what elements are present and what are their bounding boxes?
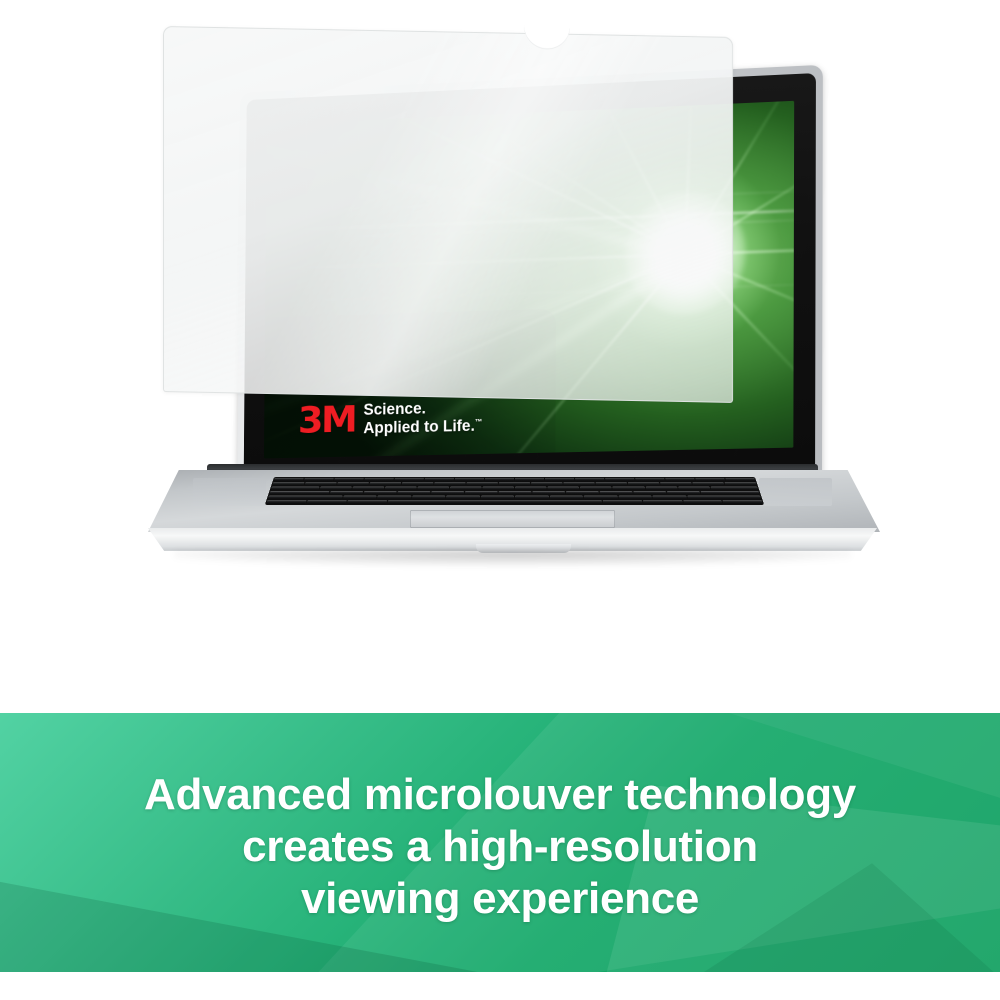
key	[695, 478, 725, 481]
key	[369, 482, 401, 486]
key	[605, 478, 635, 481]
key	[434, 482, 466, 486]
key	[532, 491, 565, 495]
key	[401, 482, 433, 486]
key	[337, 482, 369, 486]
key	[547, 487, 579, 491]
key	[482, 487, 514, 491]
marketing-banner: Advanced microlouver technology creates …	[0, 713, 1000, 972]
key	[666, 491, 700, 495]
key	[346, 500, 386, 504]
key	[417, 487, 449, 491]
key	[575, 478, 604, 481]
key	[464, 491, 497, 495]
tagline-line-2-text: Applied to Life.	[363, 417, 475, 437]
key	[584, 496, 618, 500]
3m-logo-lockup: 3M Science. Applied to Life.™	[300, 399, 483, 440]
key	[531, 482, 562, 486]
key	[682, 500, 722, 504]
key	[499, 482, 530, 486]
key	[565, 491, 598, 495]
key	[334, 478, 364, 481]
banner-line-3: viewing experience	[0, 873, 1000, 925]
key	[267, 496, 342, 500]
keyboard	[264, 477, 764, 505]
key	[645, 487, 677, 491]
key	[665, 478, 695, 481]
keyboard-row	[269, 491, 760, 495]
key	[628, 482, 660, 486]
key	[364, 478, 394, 481]
key	[602, 500, 642, 504]
key	[515, 478, 544, 481]
key	[424, 478, 453, 481]
3m-tagline: Science. Applied to Life.™	[363, 399, 482, 438]
key	[273, 478, 303, 481]
key	[618, 496, 652, 500]
key	[725, 482, 757, 486]
key	[687, 496, 762, 500]
key	[449, 487, 481, 491]
key	[351, 487, 383, 491]
key	[633, 491, 666, 495]
3m-logo-mark: 3M	[298, 405, 356, 436]
key	[545, 478, 574, 481]
key	[466, 482, 497, 486]
key	[692, 482, 724, 486]
key	[599, 491, 632, 495]
key	[411, 496, 445, 500]
trackpad	[410, 510, 616, 528]
key	[304, 482, 336, 486]
key	[485, 478, 514, 481]
key	[710, 487, 758, 491]
key	[642, 500, 682, 504]
key	[272, 482, 304, 486]
keyboard-row	[266, 500, 763, 504]
key	[515, 487, 547, 491]
key	[549, 496, 583, 500]
tagline-line-2: Applied to Life.™	[363, 417, 482, 438]
key	[595, 482, 627, 486]
key	[342, 496, 376, 500]
filter-sheen	[164, 27, 732, 402]
banner-line-1: Advanced microlouver technology	[0, 769, 1000, 821]
key	[454, 478, 483, 481]
key	[394, 478, 424, 481]
key	[480, 496, 514, 500]
speaker-grille-left	[193, 478, 267, 506]
trademark-symbol: ™	[475, 417, 483, 426]
key	[269, 491, 329, 495]
spacebar-key	[387, 500, 602, 504]
key	[635, 478, 665, 481]
key	[266, 500, 306, 504]
key	[725, 478, 755, 481]
privacy-filter-sheet	[163, 26, 733, 403]
laptop-drop-shadow	[174, 550, 850, 566]
key	[446, 496, 480, 500]
key	[700, 491, 760, 495]
key	[396, 491, 429, 495]
key	[329, 491, 363, 495]
keyboard-row	[270, 487, 758, 491]
keyboard-row	[272, 482, 757, 486]
key	[319, 487, 351, 491]
banner-headline: Advanced microlouver technology creates …	[0, 769, 1000, 925]
key	[723, 500, 763, 504]
key	[563, 482, 595, 486]
key	[306, 500, 346, 504]
key	[498, 491, 531, 495]
key	[430, 491, 463, 495]
banner-line-2: creates a high-resolution	[0, 821, 1000, 873]
keyboard-row	[267, 496, 761, 500]
key	[652, 496, 686, 500]
laptop-illustration: 3M Science. Applied to Life.™	[0, 0, 1000, 600]
key	[363, 491, 396, 495]
laptop-base	[145, 470, 880, 556]
product-image: 3M Science. Applied to Life.™	[0, 0, 1000, 713]
key	[677, 487, 709, 491]
key	[612, 487, 644, 491]
key	[660, 482, 692, 486]
finger-notch	[524, 19, 570, 50]
key	[270, 487, 318, 491]
speaker-grille-right	[759, 478, 833, 506]
key	[515, 496, 549, 500]
key	[377, 496, 411, 500]
key	[384, 487, 416, 491]
keyboard-row	[273, 478, 755, 481]
key	[303, 478, 333, 481]
key	[580, 487, 612, 491]
